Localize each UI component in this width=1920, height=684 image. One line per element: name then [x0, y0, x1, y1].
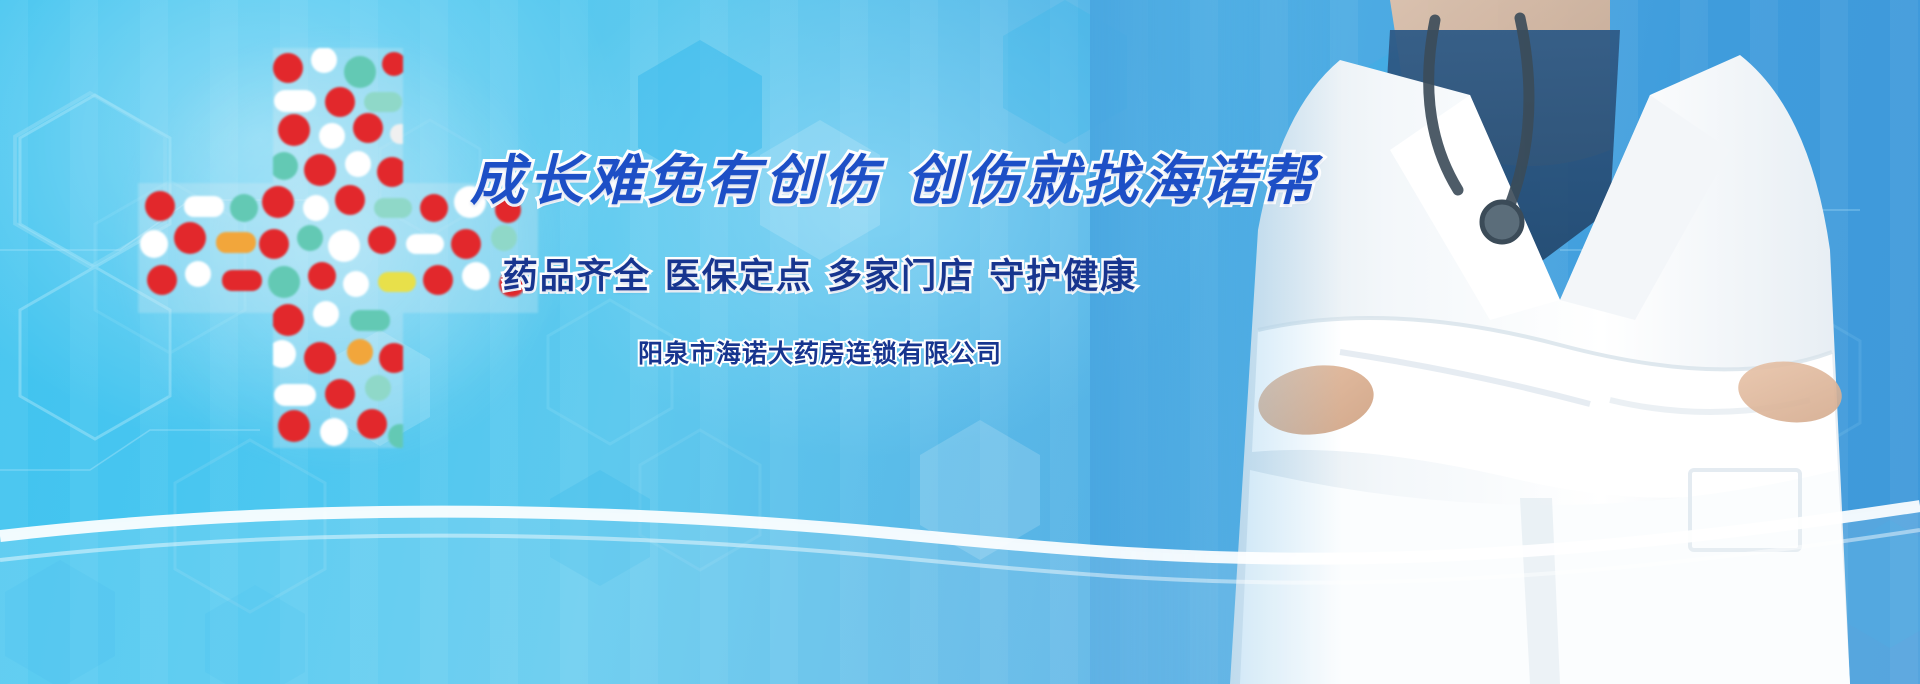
pharmacy-promo-banner: 成长难免有创伤 创伤就找海诺帮 药品齐全 医保定点 多家门店 守护健康 阳泉市海…: [0, 0, 1920, 684]
swoosh-divider-icon: [0, 384, 1920, 684]
